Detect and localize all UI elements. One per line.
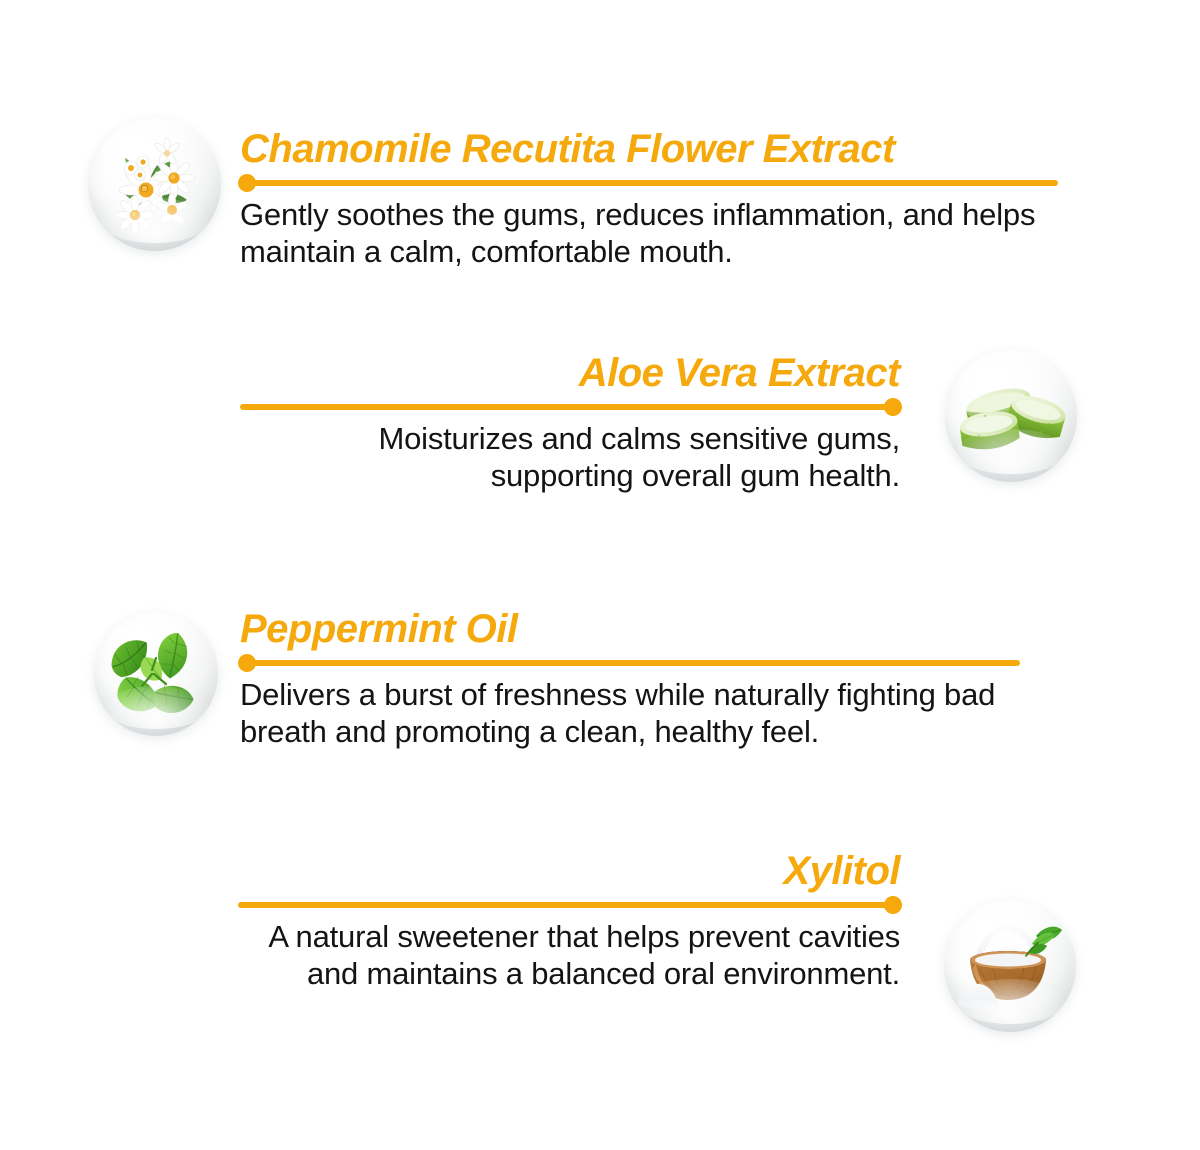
ingredient-description: Gently soothes the gums, reduces inflamm… [240, 197, 1058, 270]
accent-rule-line [240, 180, 1058, 186]
accent-rule [240, 398, 900, 416]
accent-rule-line [240, 404, 900, 410]
ingredient-description: Moisturizes and calms sensitive gums, su… [240, 421, 900, 494]
accent-rule-dot [238, 654, 256, 672]
accent-rule [238, 896, 900, 914]
accent-rule-dot [884, 896, 902, 914]
ingredient-row-chamomile: Chamomile Recutita Flower Extract Gently… [240, 128, 1058, 271]
ingredients-infographic: Chamomile Recutita Flower Extract Gently… [0, 0, 1200, 1150]
aloe-vera-art [945, 350, 1077, 482]
peppermint-leaves-icon [94, 612, 218, 736]
accent-rule-line [238, 902, 900, 908]
ingredient-title: Xylitol [238, 850, 900, 892]
ingredient-title: Chamomile Recutita Flower Extract [240, 128, 1058, 170]
ingredient-description: A natural sweetener that helps prevent c… [238, 919, 900, 992]
accent-rule [240, 174, 1058, 192]
ingredient-row-aloe: Aloe Vera Extract Moisturizes and calms … [240, 352, 900, 495]
xylitol-art [944, 900, 1076, 1032]
aloe-vera-slices-icon [945, 350, 1077, 482]
accent-rule-dot [238, 174, 256, 192]
ingredient-row-xylitol: Xylitol A natural sweetener that helps p… [238, 850, 900, 993]
peppermint-art [94, 612, 218, 736]
accent-rule-dot [884, 398, 902, 416]
accent-rule-line [240, 660, 1020, 666]
ingredient-row-peppermint: Peppermint Oil Delivers a burst of fresh… [240, 608, 1020, 751]
ingredient-title: Aloe Vera Extract [240, 352, 900, 394]
chamomile-flower-icon [88, 118, 221, 251]
ingredient-description: Delivers a burst of freshness while natu… [240, 677, 1020, 750]
xylitol-bowl-icon [944, 900, 1076, 1032]
ingredient-title: Peppermint Oil [240, 608, 1020, 650]
accent-rule [240, 654, 1020, 672]
chamomile-art [88, 118, 221, 251]
